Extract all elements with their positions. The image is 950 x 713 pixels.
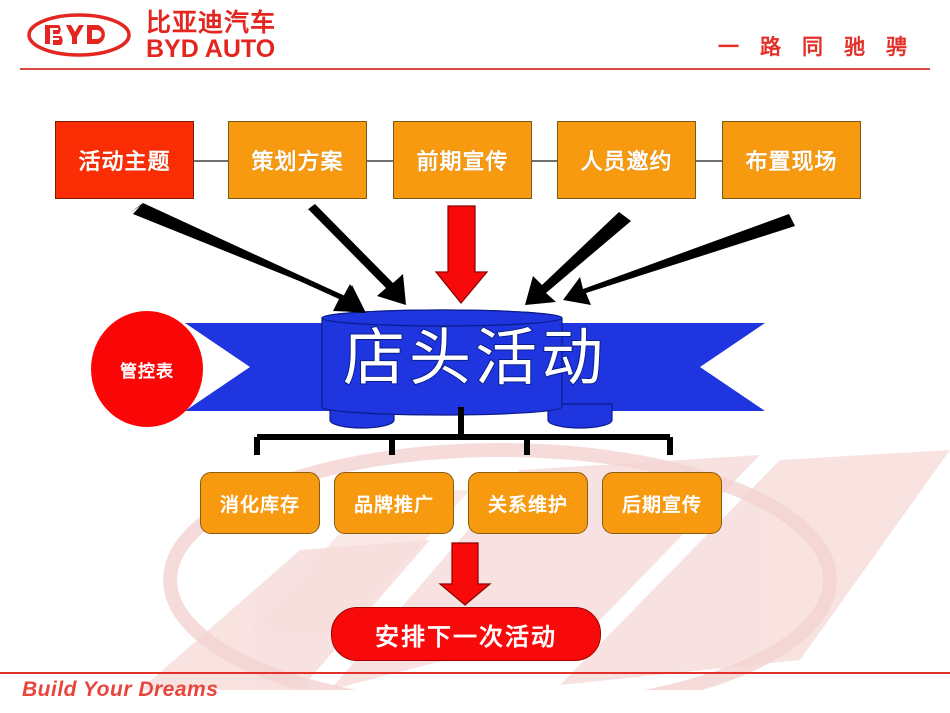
header-slogan: 一路同驰骋 — [718, 31, 928, 61]
brand-name-en: BYD AUTO — [146, 36, 275, 62]
control-sheet-badge[interactable]: 管控表 — [91, 311, 203, 427]
outcome-box-3[interactable]: 关系维护 — [468, 472, 588, 534]
process-step-1-label: 活动主题 — [78, 144, 170, 176]
slide-header: 比亚迪汽车 BYD AUTO 一路同驰骋 — [0, 0, 950, 72]
brand-name-cn: 比亚迪汽车 — [146, 10, 276, 36]
process-step-2[interactable]: 策划方案 — [228, 121, 367, 199]
process-step-5-label: 布置现场 — [745, 144, 837, 176]
arrow-from-step-1 — [131, 203, 366, 313]
outcome-box-3-label: 关系维护 — [488, 490, 568, 517]
final-step-label: 安排下一次活动 — [375, 617, 557, 652]
arrow-to-final-step — [440, 543, 490, 605]
arrow-from-step-4 — [525, 212, 631, 305]
process-step-4-label: 人员邀约 — [580, 144, 672, 176]
outcome-box-4[interactable]: 后期宣传 — [602, 472, 722, 534]
step-connector-1-2 — [194, 160, 228, 162]
ribbon-center-plaque — [322, 310, 562, 415]
header-divider — [20, 68, 930, 70]
byd-logo-icon — [26, 13, 132, 57]
outcome-bracket — [257, 407, 670, 455]
process-step-3-label: 前期宣传 — [416, 144, 508, 176]
outcome-box-1[interactable]: 消化库存 — [200, 472, 320, 534]
center-banner-title-text: 店头活动 — [343, 327, 607, 389]
outcome-box-1-label: 消化库存 — [220, 490, 300, 517]
process-step-3[interactable]: 前期宣传 — [393, 121, 532, 199]
arrow-from-step-2 — [303, 204, 406, 305]
process-step-5[interactable]: 布置现场 — [722, 121, 861, 199]
footer-divider — [0, 672, 950, 674]
step-connector-4-5 — [696, 160, 722, 162]
control-sheet-badge-label: 管控表 — [120, 357, 174, 382]
slide-canvas: 比亚迪汽车 BYD AUTO 一路同驰骋 — [0, 0, 950, 713]
process-step-1[interactable]: 活动主题 — [55, 121, 194, 199]
footer-tagline: Build Your Dreams — [22, 678, 218, 702]
process-step-2-label: 策划方案 — [251, 144, 343, 176]
arrow-from-step-3 — [436, 206, 487, 303]
outcome-box-2[interactable]: 品牌推广 — [334, 472, 454, 534]
arrow-from-step-5 — [563, 214, 795, 305]
ribbon-tails — [330, 404, 612, 428]
final-step-pill[interactable]: 安排下一次活动 — [331, 607, 601, 661]
step-connector-3-4 — [532, 160, 557, 162]
process-step-4[interactable]: 人员邀约 — [557, 121, 696, 199]
ribbon-banner-shape — [185, 323, 765, 411]
outcome-box-4-label: 后期宣传 — [622, 490, 702, 517]
step-connector-2-3 — [367, 160, 393, 162]
outcome-box-2-label: 品牌推广 — [354, 490, 434, 517]
